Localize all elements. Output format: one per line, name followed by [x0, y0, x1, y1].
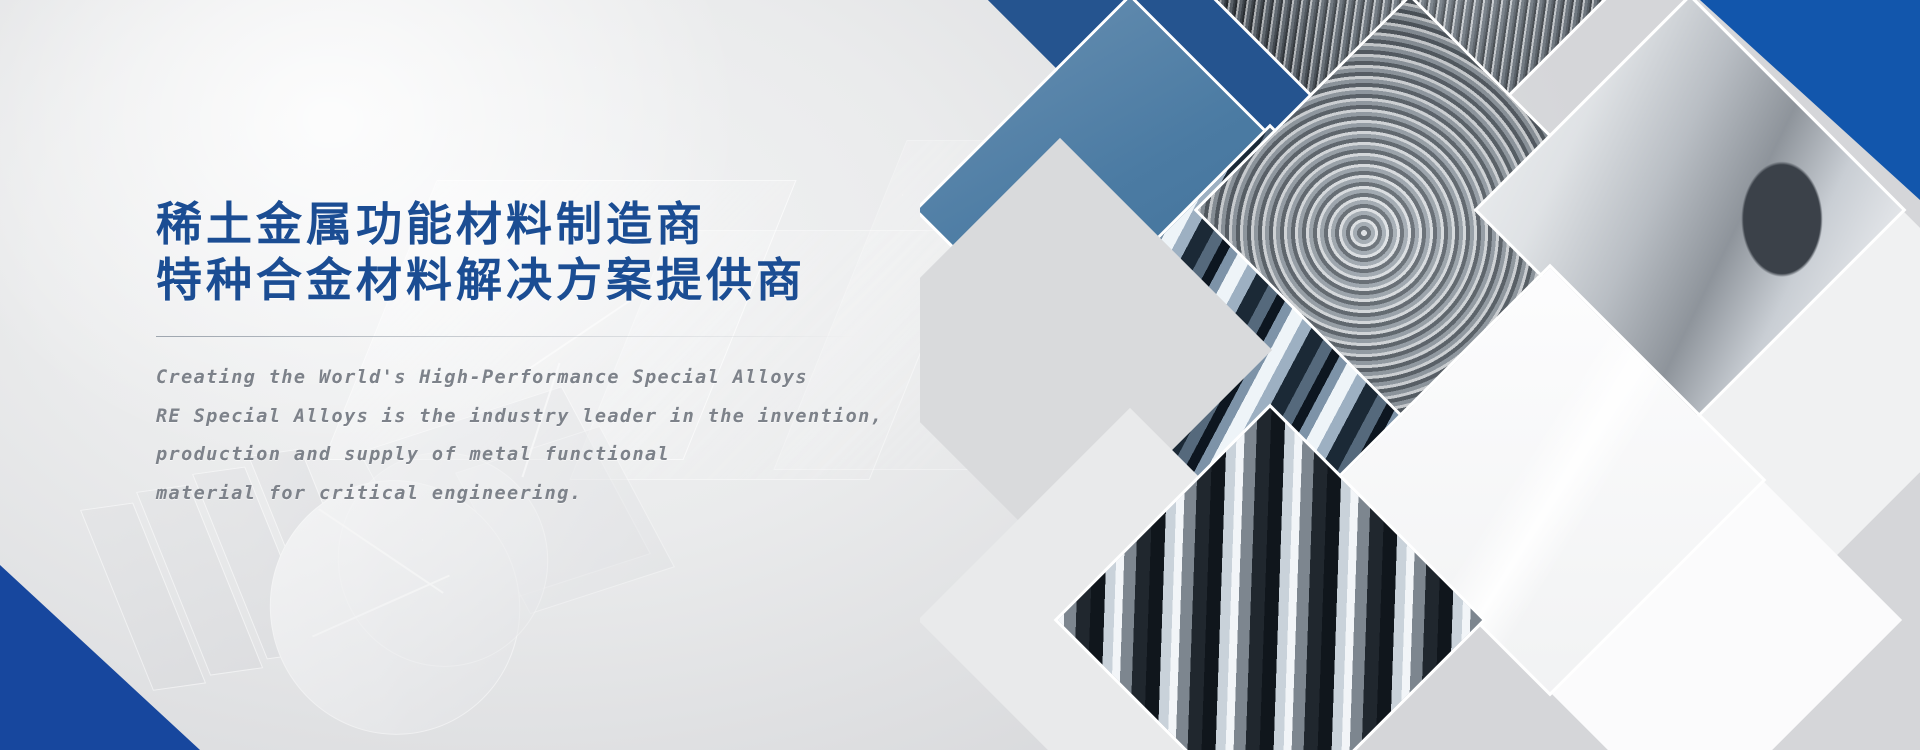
- hero-banner: 稀土金属功能材料制造商 特种合金材料解决方案提供商 Creating the W…: [0, 0, 1920, 750]
- satellite-strut-2: [312, 575, 450, 638]
- headline-line-1: 稀土金属功能材料制造商: [156, 198, 706, 250]
- satellite-strut-1: [318, 508, 443, 594]
- corner-triangle-top-right: [1700, 0, 1920, 200]
- corner-triangle-bottom-left: [0, 565, 200, 750]
- headline-divider: [156, 336, 856, 337]
